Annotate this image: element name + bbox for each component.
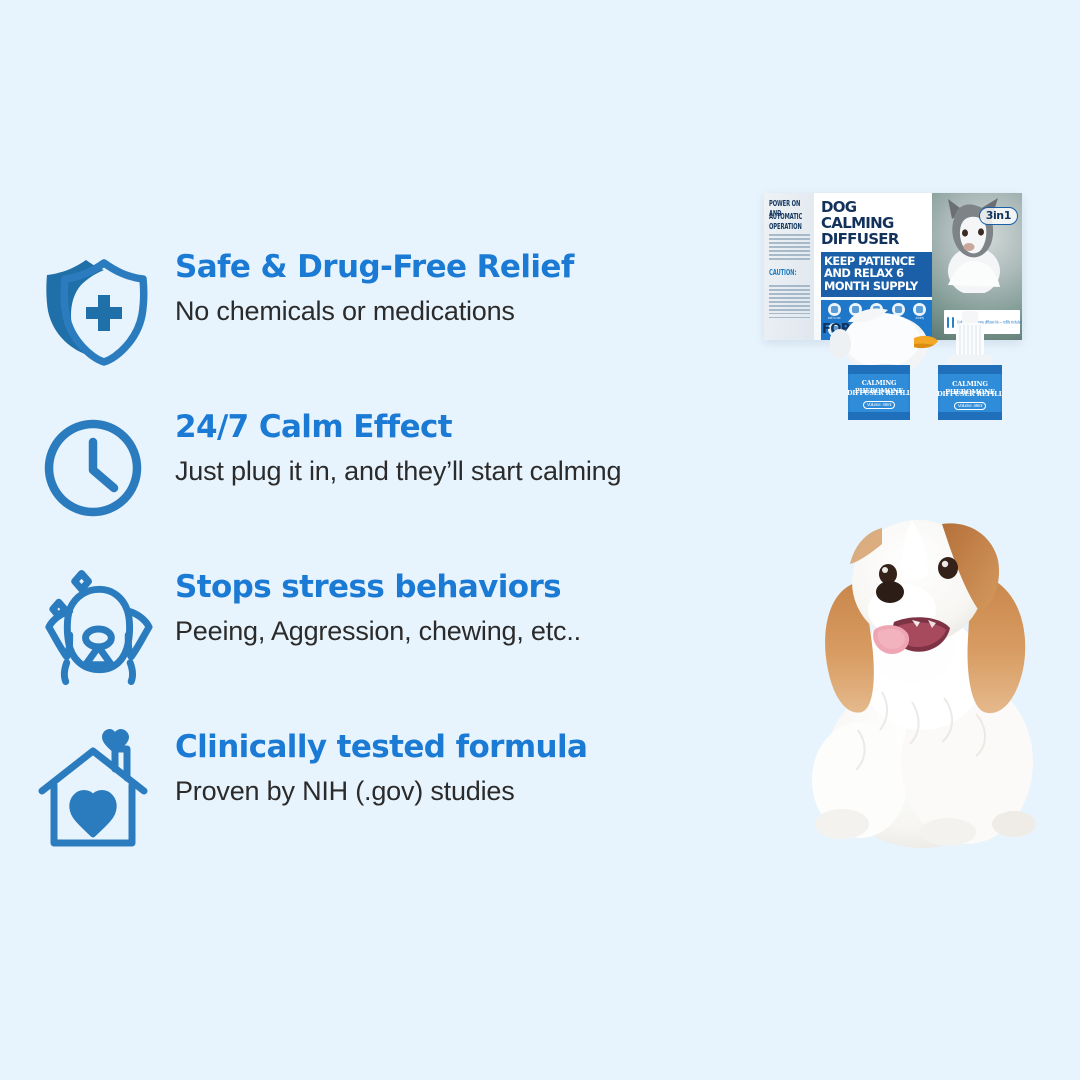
product-benefits-infographic: Safe & Drug-Free Relief No chemicals or … <box>0 0 1080 1080</box>
benefit-title: 24/7 Calm Effect <box>175 411 621 444</box>
benefit-description: Peeing, Aggression, chewing, etc.. <box>175 615 581 647</box>
benefit-description: Proven by NIH (.gov) studies <box>175 775 587 807</box>
badge-3in1: 3in1 <box>979 207 1018 225</box>
benefit-item: 24/7 Calm Effect Just plug it in, and th… <box>30 403 690 563</box>
side-panel-body-text <box>769 234 810 260</box>
box-title-line2: DIFFUSER <box>821 231 932 247</box>
benefit-item: Stops stress behaviors Peeing, Aggressio… <box>30 563 690 723</box>
house-heart-icon <box>30 725 155 850</box>
benefit-text: Stops stress behaviors Peeing, Aggressio… <box>155 563 581 647</box>
benefit-title: Clinically tested formula <box>175 731 587 764</box>
benefit-text: 24/7 Calm Effect Just plug it in, and th… <box>155 403 621 487</box>
box-subtitle: KEEP PATIENCE AND RELAX 6 MONTH SUPPLY <box>821 252 932 297</box>
bottle-b-shape <box>934 311 1006 422</box>
benefit-title: Safe & Drug-Free Relief <box>175 251 574 284</box>
refill-bottle: CALMING PHEROMONE DIFFUSER REFILL Volume… <box>934 311 1006 422</box>
benefit-item: Clinically tested formula Proven by NIH … <box>30 723 690 883</box>
box-side-panel: POWER ON AND AUTOMATIC OPERATION CAUTION… <box>764 193 814 340</box>
side-panel-heading-caution: CAUTION: <box>769 269 810 278</box>
benefit-item: Safe & Drug-Free Relief No chemicals or … <box>30 243 690 403</box>
benefits-list: Safe & Drug-Free Relief No chemicals or … <box>30 243 690 883</box>
side-panel-heading-automatic: AUTOMATIC OPERATION <box>769 213 810 232</box>
benefit-text: Clinically tested formula Proven by NIH … <box>155 723 587 807</box>
product-shot: POWER ON AND AUTOMATIC OPERATION CAUTION… <box>752 180 1052 440</box>
benefit-text: Safe & Drug-Free Relief No chemicals or … <box>155 243 574 327</box>
clock-icon <box>30 405 155 530</box>
side-panel-caution-text <box>769 285 810 318</box>
dog-face-sparkle-icon <box>30 565 155 690</box>
shield-plus-icon <box>30 245 155 370</box>
box-title-line1: DOG CALMING <box>821 199 932 231</box>
dog-photo <box>762 462 1062 850</box>
benefit-description: Just plug it in, and they’ll start calmi… <box>175 455 621 487</box>
refill-bottle: CALMING PHEROMONE DIFFUSER REFILL Volume… <box>844 357 914 422</box>
bottle-a-shape <box>844 357 914 422</box>
benefit-description: No chemicals or medications <box>175 295 574 327</box>
benefit-title: Stops stress behaviors <box>175 571 581 604</box>
